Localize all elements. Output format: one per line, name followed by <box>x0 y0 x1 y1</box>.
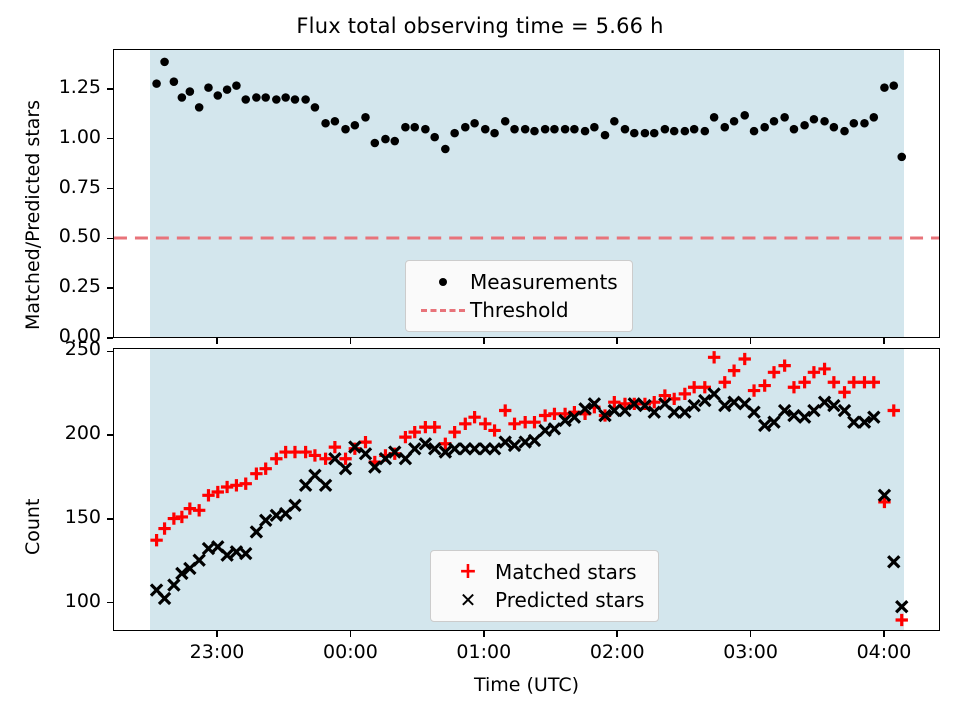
x-tick-label: 04:00 <box>824 641 944 663</box>
y-tick-mark <box>107 518 113 520</box>
x-tick-mark <box>350 631 352 637</box>
y-tick-mark <box>107 238 113 240</box>
figure-canvas: Flux total observing time = 5.66 h 0.000… <box>0 0 960 720</box>
legend-label-threshold: Threshold <box>470 298 569 322</box>
legend-label-measurements: Measurements <box>470 270 618 294</box>
y-tick-label: 250 <box>7 338 101 360</box>
y-tick-mark <box>107 88 113 90</box>
bottom-panel-ylabel: Count <box>22 499 44 555</box>
x-tick-mark <box>616 338 618 344</box>
y-tick-label: 100 <box>7 590 101 612</box>
y-tick-label: 200 <box>7 422 101 444</box>
top-panel-legend[interactable]: Measurements Threshold <box>405 260 633 332</box>
y-tick-mark <box>107 188 113 190</box>
x-tick-mark <box>883 338 885 344</box>
x-tick-mark <box>483 338 485 344</box>
legend-label-matched-stars: Matched stars <box>495 560 637 584</box>
x-tick-mark <box>883 631 885 637</box>
cross-marker-icon: ✕ <box>441 590 495 610</box>
bottom-panel-legend[interactable]: + Matched stars ✕ Predicted stars <box>430 550 659 622</box>
x-tick-mark <box>216 631 218 637</box>
legend-label-predicted-stars: Predicted stars <box>495 588 644 612</box>
series-measurements <box>152 58 906 162</box>
y-tick-mark <box>107 287 113 289</box>
legend-item-measurements[interactable]: Measurements <box>416 268 618 296</box>
legend-item-matched-stars[interactable]: + Matched stars <box>441 558 644 586</box>
y-tick-mark <box>107 434 113 436</box>
y-tick-mark <box>107 138 113 140</box>
x-tick-mark <box>483 631 485 637</box>
legend-item-predicted-stars[interactable]: ✕ Predicted stars <box>441 586 644 614</box>
x-tick-label: 02:00 <box>557 641 677 663</box>
y-tick-mark <box>107 602 113 604</box>
y-tick-label: 1.25 <box>7 76 101 98</box>
x-tick-mark <box>750 338 752 344</box>
x-tick-mark <box>216 338 218 344</box>
x-tick-mark <box>616 631 618 637</box>
dot-marker-icon <box>416 278 470 286</box>
x-tick-mark <box>750 631 752 637</box>
x-tick-label: 23:00 <box>157 641 277 663</box>
x-tick-label: 03:00 <box>691 641 811 663</box>
x-axis-label: Time (UTC) <box>113 674 940 696</box>
legend-item-threshold[interactable]: Threshold <box>416 296 618 324</box>
x-tick-label: 00:00 <box>290 641 410 663</box>
figure-title: Flux total observing time = 5.66 h <box>0 14 960 38</box>
dashed-line-icon <box>416 309 470 312</box>
x-tick-label: 01:00 <box>424 641 544 663</box>
top-panel-ylabel: Matched/Predicted stars <box>22 100 44 330</box>
x-tick-mark <box>350 338 352 344</box>
y-tick-mark <box>107 337 113 339</box>
y-tick-mark <box>107 351 113 353</box>
plus-marker-icon: + <box>441 561 495 583</box>
